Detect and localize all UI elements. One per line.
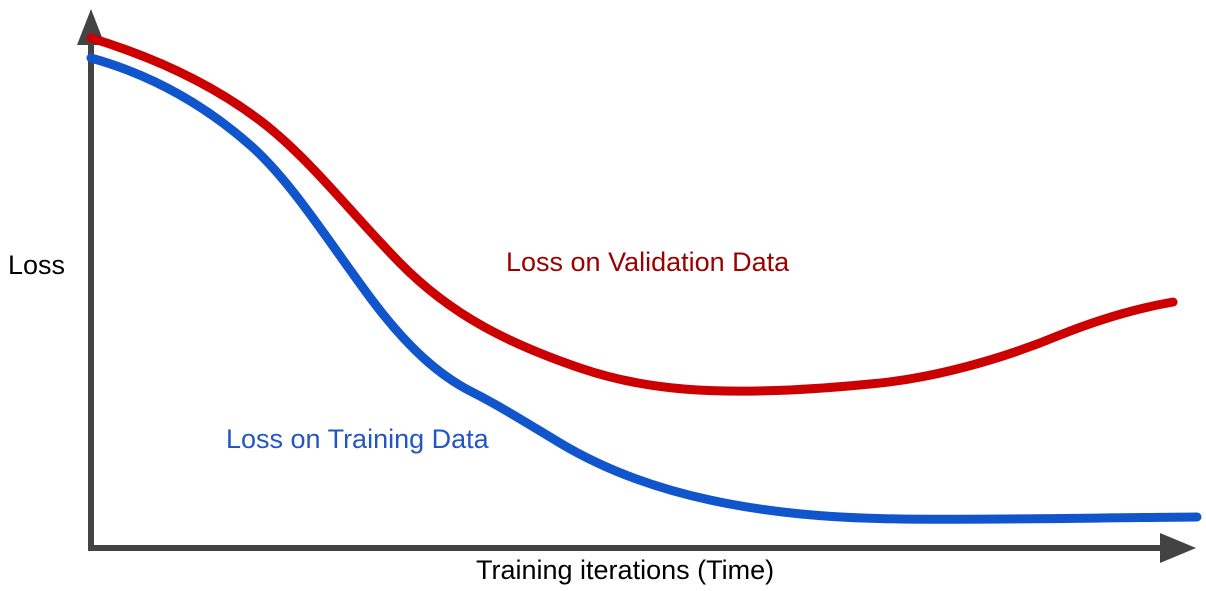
x-axis-arrowhead [1160,533,1196,563]
overfitting-loss-chart: Loss Training iterations (Time) Loss on … [0,0,1206,591]
training-series-label: Loss on Training Data [226,426,489,453]
x-axis-label: Training iterations (Time) [476,557,774,584]
y-axis-label: Loss [8,252,65,279]
validation-series-label: Loss on Validation Data [506,249,789,276]
validation-loss-curve [91,38,1173,391]
chart-plot-area [0,0,1206,591]
